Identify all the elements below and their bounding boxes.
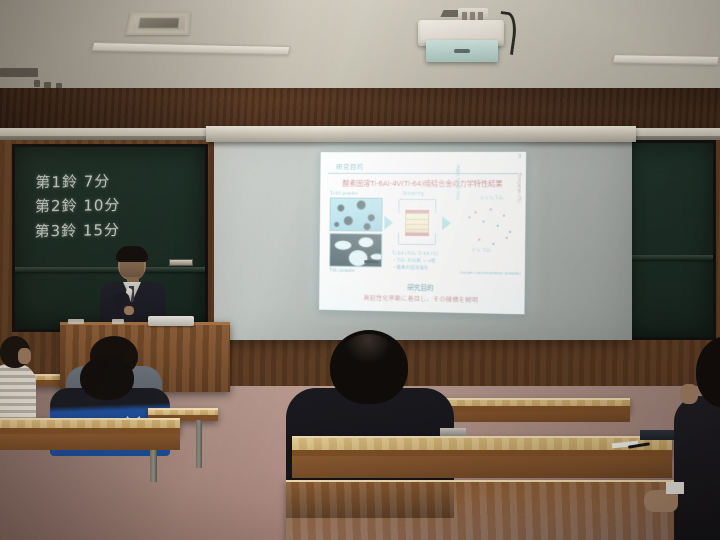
hair-highlight: [344, 334, 392, 364]
desk-leg: [196, 420, 202, 468]
ceiling-light-fixture: [612, 54, 719, 65]
press-specimen: [405, 213, 429, 233]
projected-slide: 3 研究目的 酸素固溶Ti-6Al-4V(Ti-64)焼結合金の力学特性結果 T…: [319, 152, 526, 315]
flow-arrow-icon: [442, 216, 451, 230]
presenter-laptop: [148, 316, 194, 326]
laptop-closed: [440, 428, 466, 436]
audience-hand-raised: [680, 384, 698, 404]
lecture-hall-scene: 第1鈴 7分 第2鈴 10分 第3鈴 15分 3 研究目的 酸素固溶Ti-6Al…: [0, 0, 720, 540]
shirt-cuff: [666, 482, 684, 494]
ceiling-speaker-icon: [34, 80, 40, 87]
slide-divider: [328, 173, 517, 174]
ceiling-mounted-projector: [418, 8, 504, 60]
chart-annotation-low: 0 % TiO₂: [472, 249, 491, 254]
slide-footer-subtitle: 高延性化挙動に着目し、その機構を解明: [319, 292, 524, 305]
slide-section-label: 研究目的: [336, 161, 364, 171]
blackboard-chalk-text: 第1鈴 7分 第2鈴 10分 第3鈴 15分: [34, 168, 203, 244]
micrograph-label-top: Ti-64 powder: [330, 192, 358, 197]
slide-micrograph-group: Ti-64 powder TiO₂ powder: [329, 192, 383, 270]
audience-head: [80, 356, 134, 400]
ceiling-fixture-edge: [0, 68, 38, 77]
chart-y-left-label: Yield stress (MPa): [455, 165, 460, 200]
slide-schematic-label: Sintering: [402, 192, 424, 197]
chart-y-right-label: Elongation (%): [516, 173, 521, 203]
podium-paper: [68, 319, 84, 324]
projector-lens: [426, 40, 498, 62]
scale-bar: [364, 260, 378, 263]
slide-title: 酸素固溶Ti-6Al-4V(Ti-64)焼結合金の力学特性結果: [320, 179, 526, 190]
lecture-desk-row: [0, 418, 180, 434]
chalk-line-2: 第2鈴 10分: [35, 192, 204, 219]
press-lower-die: [398, 233, 436, 245]
micrograph-image-powder: [330, 198, 383, 232]
slide-mix-notes: Ti-64+TiO₂ Ti-64 (O) ・TiO₂ の分解 → α相 ・酸素の…: [392, 252, 466, 274]
chart-annotation-high: 0.4 % TiO₂: [481, 196, 504, 201]
dark-jacket: [674, 396, 720, 540]
desk-front-panel: [292, 456, 672, 478]
air-vent-icon: [125, 12, 190, 35]
audience-face: [18, 348, 31, 364]
chart-x-label: Oxygen concentration (mass%): [460, 270, 521, 276]
striped-sweater: [0, 364, 36, 422]
chalk-eraser-icon: [169, 259, 193, 266]
notebook: [640, 430, 674, 440]
presenter-hair: [116, 246, 148, 262]
chalk-line-3: 第3鈴 15分: [34, 216, 203, 243]
desk-front-panel: [0, 434, 180, 450]
projection-screen-housing: [206, 126, 636, 142]
flow-arrow-icon: [384, 216, 393, 230]
chalk-line-1: 第1鈴 7分: [35, 168, 204, 195]
desk-back-panel: [286, 480, 686, 540]
presenter-hand: [124, 306, 134, 315]
micrograph-label-bottom: TiO₂ powder: [329, 269, 355, 274]
mix-line-3: ・酸素の固溶強化: [392, 265, 466, 273]
slide-scatter-chart: Yield stress (MPa) Elongation (%) 0.4 % …: [458, 194, 520, 273]
podium-paper: [112, 319, 124, 324]
micrograph-image-tio2: [329, 233, 382, 267]
slide-page-number: 3: [518, 154, 521, 160]
slide-sintering-schematic: [396, 199, 438, 247]
